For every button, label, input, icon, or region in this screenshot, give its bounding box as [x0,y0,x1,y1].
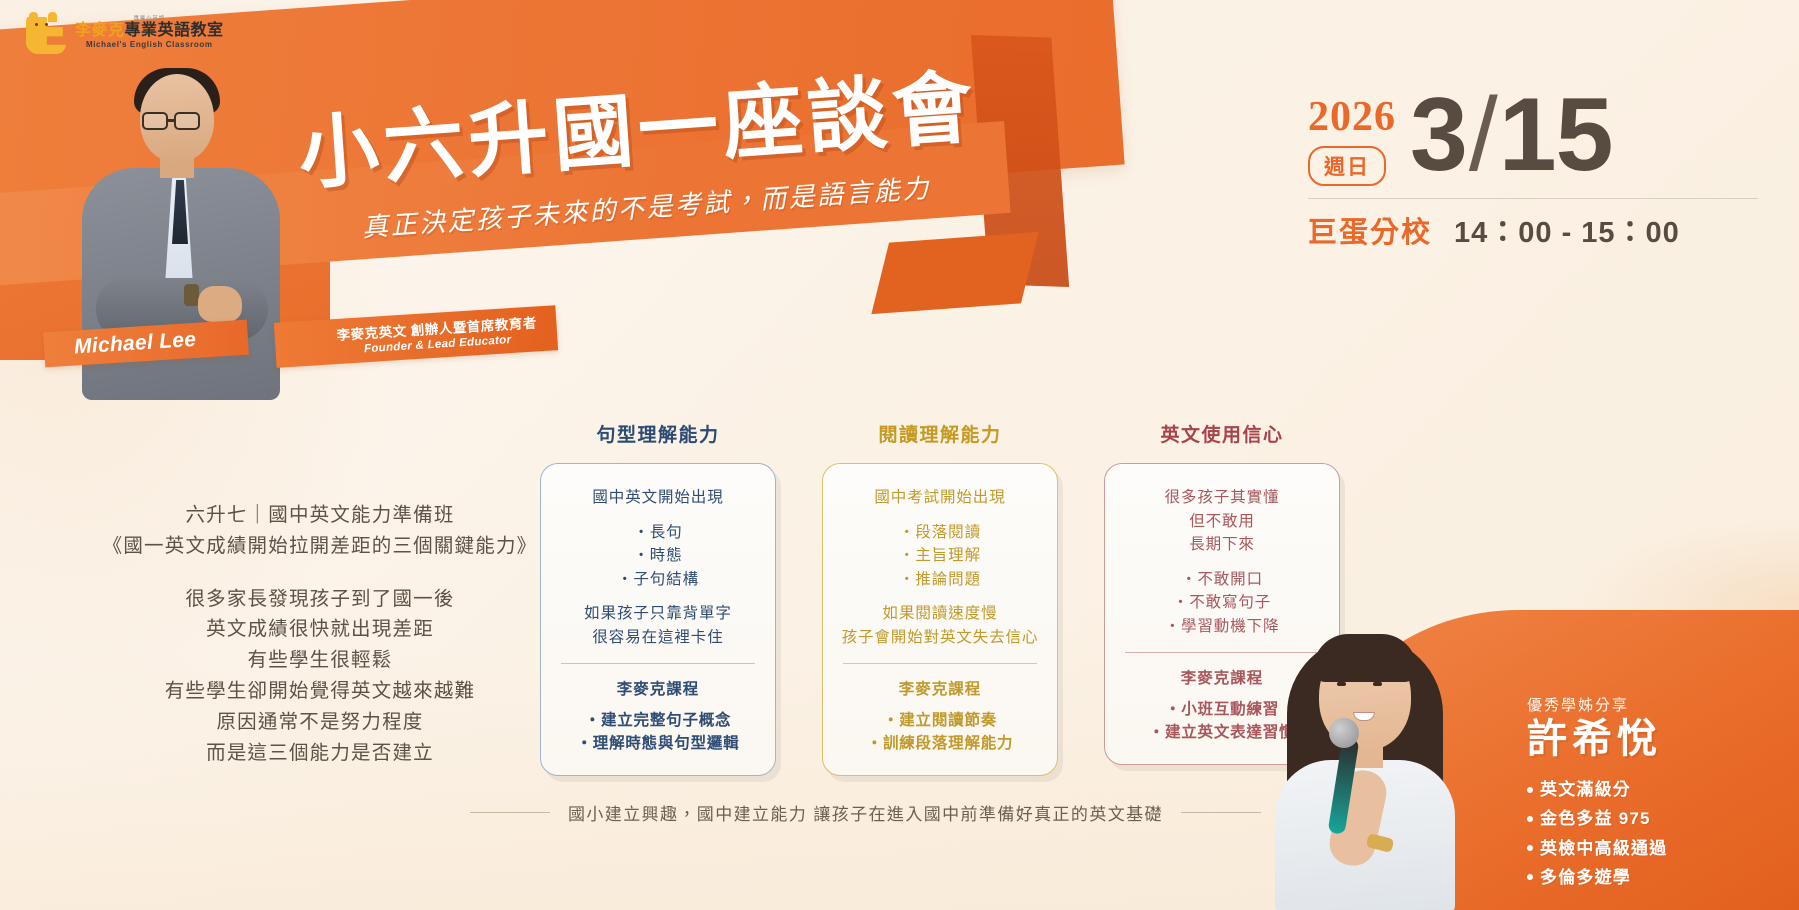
ability-bullet: ・子句結構 [555,568,761,592]
tagline-rule-left [470,812,550,813]
testimonial-item: 英文滿級分 [1527,775,1777,804]
bullet-dot-icon [1527,845,1533,851]
presenter-name-en: Michael Lee [43,320,249,368]
testimonial-text: 優秀學姊分享 許希悅 英文滿級分 金色多益 975 英檢中高級通過 多倫多遊學 [1527,694,1777,892]
intro-spacer [100,562,540,584]
bullet-dot-icon [1527,816,1533,822]
brand-logo[interactable]: 專業小英語 李麥克專業英語教室 Michael's English Classr… [26,12,224,54]
intro-line-8: 而是這三個能力是否建立 [100,738,540,769]
bullet-dot-icon [1527,787,1533,793]
ability-card-divider [561,663,755,664]
ability-card-body: 國中考試開始出現 ・段落閱讀 ・主旨理解 ・推論問題 如果閱讀速度慢 孩子會開始… [822,463,1058,776]
ability-card-note-2: 很容易在這裡卡住 [555,626,761,650]
ability-bullet: ・推論問題 [837,568,1043,592]
event-divider [1308,198,1758,199]
testimonial-item: 英檢中高級通過 [1527,834,1777,863]
ability-card-sentence-structure: 句型理解能力 國中英文開始出現 ・長句 ・時態 ・子句結構 如果孩子只靠背單字 … [540,420,776,776]
testimonial-item-label: 英檢中高級通過 [1540,834,1667,863]
event-day: 15 [1499,77,1613,193]
event-month: 3 [1410,77,1467,193]
intro-line-4: 英文成績很快就出現差距 [100,614,540,645]
event-venue-row: 巨蛋分校 14：00 - 15：00 [1308,209,1758,251]
ability-bullet: ・長句 [555,521,761,545]
event-year: 2026 [1308,96,1396,138]
event-day-of-week-badge: 週日 [1308,146,1386,186]
ability-card-reading-comprehension: 閱讀理解能力 國中考試開始出現 ・段落閱讀 ・主旨理解 ・推論問題 如果閱讀速度… [822,420,1058,776]
testimonial-item-label: 多倫多遊學 [1540,863,1631,892]
intro-copy: 六升七｜國中英文能力準備班 《國一英文成績開始拉開差距的三個關鍵能力》 很多家長… [100,500,540,768]
intro-line-1: 六升七｜國中英文能力準備班 [100,500,540,531]
ability-bullet: ・不敢開口 [1119,568,1325,592]
event-year-dow: 2026 週日 [1308,86,1396,186]
brand-logo-name-en: Michael's English Classroom [75,41,224,49]
ability-course-item: ・建立完整句子概念 [555,709,761,732]
student-photo [1239,620,1489,910]
ability-card-heading: 閱讀理解能力 [822,420,1058,447]
testimonial-item-label: 英文滿級分 [1540,775,1631,804]
ability-card-heading: 英文使用信心 [1104,420,1340,447]
event-date-block: 2026 週日 3/15 巨蛋分校 14：00 - 15：00 [1308,86,1758,251]
ability-course-item: ・建立閱讀節奏 [837,709,1043,732]
event-date-row: 2026 週日 3/15 [1308,86,1758,186]
brand-logo-name-highlight: 李麥克 [75,22,125,39]
event-venue: 巨蛋分校 [1308,209,1432,251]
microphone-icon [1329,718,1359,748]
ability-card-note-2: 孩子會開始對英文失去信心 [837,626,1043,650]
event-time: 14：00 - 15：00 [1454,209,1680,251]
ability-card-bullets: ・段落閱讀 ・主旨理解 ・推論問題 [837,521,1043,592]
ability-card-divider [843,663,1037,664]
testimonial-item: 多倫多遊學 [1527,863,1777,892]
bear-mascot-icon [26,12,66,54]
bullet-dot-icon [1527,874,1533,880]
tagline-text: 國小建立興趣，國中建立能力 讓孩子在進入國中前準備好真正的英文基礎 [568,800,1163,825]
intro-line-7: 原因通常不是努力程度 [100,707,540,738]
banner-ribbon-tail [871,232,1038,314]
ability-card-body: 國中英文開始出現 ・長句 ・時態 ・子句結構 如果孩子只靠背單字 很容易在這裡卡… [540,463,776,776]
ability-card-lead: 很多孩子其實懂 但不敢用 長期下來 [1119,486,1325,557]
ability-bullet: ・主旨理解 [837,544,1043,568]
ability-course-title: 李麥克課程 [555,678,761,702]
testimonial-item: 金色多益 975 [1527,804,1777,833]
ability-cards: 句型理解能力 國中英文開始出現 ・長句 ・時態 ・子句結構 如果孩子只靠背單字 … [540,420,1340,776]
intro-line-2: 《國一英文成績開始拉開差距的三個關鍵能力》 [100,531,540,562]
ability-card-heading: 句型理解能力 [540,420,776,447]
ability-course-title: 李麥克課程 [837,678,1043,702]
testimonial-item-label: 金色多益 975 [1540,804,1651,833]
brand-logo-text: 專業小英語 李麥克專業英語教室 Michael's English Classr… [75,17,224,50]
testimonial-label: 優秀學姊分享 [1527,694,1777,715]
intro-line-3: 很多家長發現孩子到了國一後 [100,584,540,615]
presenter-namecard: Michael Lee 李麥克英文 創辦人暨首席教育者 Founder & Le… [44,318,557,361]
event-date-large: 3/15 [1410,86,1612,185]
ability-bullet: ・時態 [555,544,761,568]
ability-card-lead: 國中考試開始出現 [837,486,1043,510]
ability-course-item: ・訓練段落理解能力 [837,732,1043,755]
ability-card-lead: 國中英文開始出現 [555,486,761,510]
ability-card-note-1: 如果孩子只靠背單字 [555,602,761,626]
brand-logo-name-rest: 專業英語教室 [125,22,224,39]
footer-tagline: 國小建立興趣，國中建立能力 讓孩子在進入國中前準備好真正的英文基礎 [470,800,1230,825]
brand-logo-name-cn: 李麥克專業英語教室 [75,23,224,40]
testimonial-name: 許希悅 [1527,717,1777,761]
ability-bullet: ・不敢寫句子 [1119,591,1325,615]
ability-bullet: ・段落閱讀 [837,521,1043,545]
intro-line-5: 有些學生很輕鬆 [100,645,540,676]
ability-card-note-1: 如果閱讀速度慢 [837,602,1043,626]
ability-course-item: ・理解時態與句型邏輯 [555,732,761,755]
event-date-separator: / [1467,77,1499,193]
ability-card-bullets: ・長句 ・時態 ・子句結構 [555,521,761,592]
intro-line-6: 有些學生卻開始覺得英文越來越難 [100,676,540,707]
